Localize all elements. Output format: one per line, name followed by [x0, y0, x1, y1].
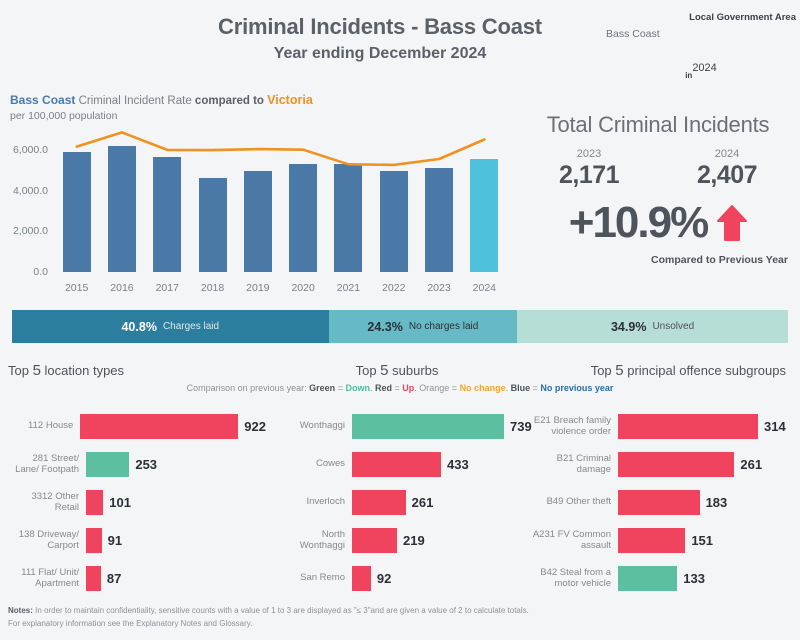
list-item-bar[interactable] — [618, 566, 677, 591]
rate-metric-label: Criminal Incident Rate — [79, 95, 192, 107]
list-item-value: 261 — [412, 495, 434, 510]
list-item[interactable]: 111 Flat/ Unit/Apartment87 — [0, 559, 266, 597]
panel-top-suburbs: Wonthaggi739Cowes433Inverloch261NorthWon… — [266, 403, 532, 595]
list-item-bar-wrap: 261 — [352, 483, 532, 521]
list-item-label: B42 Steal from amotor vehicle — [532, 567, 618, 590]
list-item[interactable]: 3312 OtherRetail101 — [0, 483, 266, 521]
list-item-bar[interactable] — [618, 414, 758, 439]
list-item-value: 183 — [706, 495, 728, 510]
lga-value[interactable]: Bass Coast — [606, 28, 749, 40]
list-item-bar[interactable] — [618, 528, 685, 553]
legend-red-value: Up — [402, 383, 414, 393]
dashboard-page: Criminal Incidents - Bass Coast Year end… — [0, 0, 800, 640]
percent-change-row: +10.9% — [520, 198, 796, 248]
list-item[interactable]: B42 Steal from amotor vehicle133 — [532, 559, 798, 597]
lga-filter[interactable]: Local Government Area Bass Coast — [606, 12, 796, 40]
list-item-bar[interactable] — [86, 528, 102, 553]
outcome-label: Unsolved — [652, 321, 694, 332]
sub-post: suburbs — [389, 363, 439, 378]
outcome-label: Charges laid — [163, 321, 219, 332]
list-item-bar[interactable] — [352, 414, 504, 439]
current-year-label: 2024 — [658, 148, 796, 160]
list-item-label: 111 Flat/ Unit/Apartment — [0, 567, 86, 590]
notes-line-1: Notes: In order to maintain confidential… — [8, 604, 688, 617]
list-item[interactable]: Inverloch261 — [266, 483, 532, 521]
list-item-bar[interactable] — [352, 490, 406, 515]
list-item-value: 314 — [764, 419, 786, 434]
list-item-bar-wrap: 101 — [86, 483, 266, 521]
arrow-up-icon — [717, 205, 747, 241]
list-item[interactable]: 281 Street/Lane/ Footpath253 — [0, 445, 266, 483]
list-item-label: NorthWonthaggi — [266, 529, 352, 552]
rate-chart-subheading: per 100,000 population — [10, 110, 117, 122]
list-item-bar-wrap: 151 — [618, 521, 798, 559]
list-item-value: 922 — [244, 419, 266, 434]
rate-chart-x-tick: 2018 — [190, 282, 235, 294]
list-item-bar[interactable] — [86, 452, 129, 477]
outcome-segment[interactable]: 24.3%No charges laid — [329, 310, 518, 343]
list-item-value: 87 — [107, 571, 121, 586]
list-item-value: 253 — [135, 457, 157, 472]
list-item-bar-wrap: 433 — [352, 445, 532, 483]
list-item[interactable]: A231 FV Commonassault151 — [532, 521, 798, 559]
rate-chart-x-tick: 2023 — [416, 282, 461, 294]
bottom-panels: 112 House922281 Street/Lane/ Footpath253… — [0, 403, 800, 595]
rate-state-label: Victoria — [267, 93, 313, 107]
list-item-bar[interactable] — [352, 528, 397, 553]
rate-chart-y-tick: 4,000.0 — [13, 185, 48, 197]
rate-chart-x-tick: 2022 — [371, 282, 416, 294]
list-item-value: 219 — [403, 533, 425, 548]
rate-chart-x-tick: 2019 — [235, 282, 280, 294]
panel-top-location-types: 112 House922281 Street/Lane/ Footpath253… — [0, 403, 266, 595]
list-item-bar-wrap: 92 — [352, 559, 532, 597]
list-item[interactable]: NorthWonthaggi219 — [266, 521, 532, 559]
off-pre: Top — [591, 363, 616, 378]
list-item-value: 261 — [740, 457, 762, 472]
outcome-percent: 24.3% — [367, 320, 402, 334]
list-item-label: B49 Other theft — [532, 496, 618, 508]
panel-headings: Top 5 location types Top 5 suburbs Top 5… — [0, 362, 800, 379]
comparison-legend: Comparison on previous year: Green = Dow… — [0, 383, 800, 393]
in-year-value[interactable]: 2024 — [692, 62, 716, 74]
list-item-bar[interactable] — [86, 566, 101, 591]
list-item-bar-wrap: 739 — [352, 407, 532, 445]
legend-blue-key: Blue — [511, 383, 531, 393]
victoria-rate-polyline — [77, 132, 485, 165]
outcome-segment[interactable]: 40.8%Charges laid — [12, 310, 329, 343]
list-item-label: 3312 OtherRetail — [0, 491, 86, 514]
legend-green-value: Down — [345, 383, 370, 393]
list-item-bar[interactable] — [352, 452, 441, 477]
list-item-bar[interactable] — [80, 414, 238, 439]
list-item-label: A231 FV Commonassault — [532, 529, 618, 552]
previous-year-stat: 2023 2,171 — [520, 148, 658, 190]
rate-chart-y-tick: 2,000.0 — [13, 225, 48, 237]
list-item-value: 739 — [510, 419, 532, 434]
sub-five: 5 — [380, 362, 388, 379]
loc-five: 5 — [33, 362, 41, 379]
rate-chart-x-tick: 2024 — [462, 282, 507, 294]
list-item-bar-wrap: 87 — [86, 559, 266, 597]
list-item[interactable]: Cowes433 — [266, 445, 532, 483]
compare-note: Compared to Previous Year — [520, 254, 796, 266]
heading-top-location-types: Top 5 location types — [0, 362, 267, 379]
victoria-rate-line — [54, 130, 507, 272]
lga-label: Local Government Area — [606, 12, 796, 23]
list-item-value: 92 — [377, 571, 391, 586]
list-item-bar-wrap: 314 — [618, 407, 798, 445]
list-item-bar[interactable] — [618, 490, 700, 515]
legend-blue-value: No previous year — [540, 383, 613, 393]
previous-year-label: 2023 — [520, 148, 658, 160]
list-item[interactable]: Wonthaggi739 — [266, 407, 532, 445]
rate-chart: 0.02,000.04,000.06,000.0 201520162017201… — [0, 130, 515, 295]
legend-orange-value: No change — [460, 383, 506, 393]
rate-chart-heading: Bass Coast Criminal Incident Rate compar… — [10, 93, 313, 107]
rate-chart-x-axis: 2015201620172018201920202021202220232024 — [54, 282, 507, 294]
list-item-bar-wrap: 219 — [352, 521, 532, 559]
off-post: principal offence subgroups — [624, 363, 786, 378]
list-item[interactable]: B21 Criminaldamage261 — [532, 445, 798, 483]
current-year-stat: 2024 2,407 — [658, 148, 796, 190]
rate-chart-x-tick: 2020 — [280, 282, 325, 294]
list-item[interactable]: E21 Breach familyviolence order314 — [532, 407, 798, 445]
list-item-value: 91 — [108, 533, 122, 548]
rate-chart-y-tick: 6,000.0 — [13, 144, 48, 156]
list-item-bar-wrap: 922 — [80, 407, 266, 445]
outcome-percent: 40.8% — [121, 320, 156, 334]
outcome-label: No charges laid — [409, 321, 478, 332]
previous-year-value: 2,171 — [520, 161, 658, 190]
list-item-bar[interactable] — [352, 566, 371, 591]
rate-chart-x-tick: 2021 — [326, 282, 371, 294]
page-subtitle: Year ending December 2024 — [0, 45, 760, 63]
notes-line-1-text: In order to maintain confidentiality, se… — [33, 606, 529, 615]
list-item-bar-wrap: 91 — [86, 521, 266, 559]
rate-chart-plot — [54, 130, 507, 278]
list-item[interactable]: 112 House922 — [0, 407, 266, 445]
list-item-label: 138 Driveway/Carport — [0, 529, 86, 552]
loc-post: location types — [41, 363, 124, 378]
list-item[interactable]: San Remo92 — [266, 559, 532, 597]
total-incidents-years: 2023 2,171 2024 2,407 — [520, 148, 796, 190]
heading-top-suburbs: Top 5 suburbs — [267, 362, 526, 379]
outcome-segment[interactable]: 34.9%Unsolved — [517, 310, 788, 343]
rate-chart-x-tick: 2016 — [99, 282, 144, 294]
list-item-bar[interactable] — [86, 490, 103, 515]
rate-compared-label: compared to — [195, 95, 264, 107]
panel-top-offence-subgroups: E21 Breach familyviolence order314B21 Cr… — [532, 403, 798, 595]
list-item[interactable]: 138 Driveway/Carport91 — [0, 521, 266, 559]
rate-region-label: Bass Coast — [10, 93, 75, 107]
list-item-label: Inverloch — [266, 496, 352, 508]
list-item[interactable]: B49 Other theft183 — [532, 483, 798, 521]
list-item-value: 151 — [691, 533, 713, 548]
list-item-label: 112 House — [0, 420, 80, 432]
list-item-bar-wrap: 261 — [618, 445, 798, 483]
notes-line-2: For explanatory information see the Expl… — [8, 617, 688, 630]
year-filter[interactable]: in2024 — [606, 62, 796, 80]
legend-intro: Comparison on previous year: — [187, 383, 307, 393]
rate-chart-x-tick: 2015 — [54, 282, 99, 294]
list-item-value: 433 — [447, 457, 469, 472]
heading-top-offence-subgroups: Top 5 principal offence subgroups — [527, 362, 800, 379]
list-item-bar-wrap: 183 — [618, 483, 798, 521]
current-year-value: 2,407 — [658, 161, 796, 190]
sub-pre: Top — [356, 363, 381, 378]
notes-label: Notes: — [8, 606, 33, 615]
outcome-percent: 34.9% — [611, 320, 646, 334]
off-five: 5 — [615, 362, 623, 379]
list-item-value: 133 — [683, 571, 705, 586]
list-item-label: San Remo — [266, 572, 352, 584]
list-item-bar-wrap: 253 — [86, 445, 266, 483]
list-item-label: E21 Breach familyviolence order — [532, 415, 618, 438]
legend-red-key: Red — [375, 383, 392, 393]
investigation-outcome-bar[interactable]: 40.8%Charges laid24.3%No charges laid34.… — [12, 310, 788, 343]
list-item-label: B21 Criminaldamage — [532, 453, 618, 476]
rate-chart-y-tick: 0.0 — [33, 266, 48, 278]
total-incidents-title: Total Criminal Incidents — [520, 112, 796, 138]
rate-chart-x-tick: 2017 — [145, 282, 190, 294]
percent-change-value: +10.9% — [569, 198, 707, 248]
list-item-bar[interactable] — [618, 452, 734, 477]
list-item-label: Wonthaggi — [266, 420, 352, 432]
legend-orange-key: Orange — [419, 383, 449, 393]
legend-green-key: Green — [309, 383, 335, 393]
loc-pre: Top — [8, 363, 33, 378]
footer-notes: Notes: In order to maintain confidential… — [8, 604, 688, 630]
rate-chart-y-axis: 0.02,000.04,000.06,000.0 — [0, 130, 52, 278]
total-incidents-panel: Total Criminal Incidents 2023 2,171 2024… — [520, 112, 796, 266]
list-item-bar-wrap: 133 — [618, 559, 798, 597]
list-item-label: 281 Street/Lane/ Footpath — [0, 453, 86, 476]
list-item-value: 101 — [109, 495, 131, 510]
list-item-label: Cowes — [266, 458, 352, 470]
